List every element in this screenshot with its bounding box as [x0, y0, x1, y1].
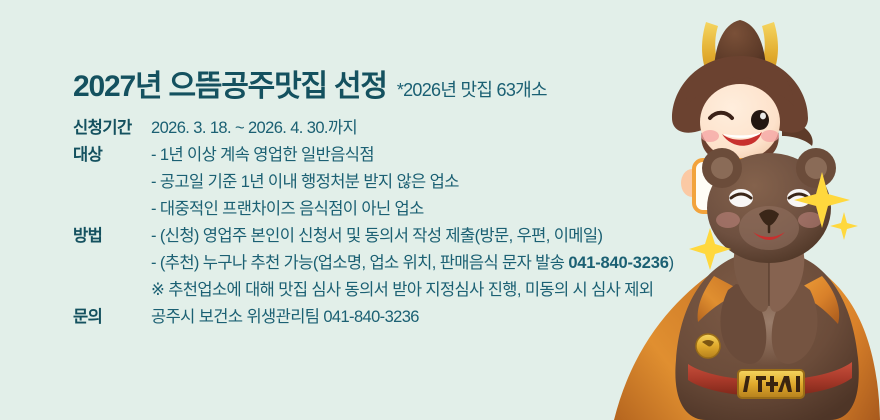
hat-horn-left	[702, 22, 728, 92]
bear-hand-left	[734, 229, 769, 312]
bear-character	[675, 148, 858, 420]
info-row-label: 대상	[73, 142, 145, 168]
cheek-left	[701, 130, 719, 142]
cheek-right	[761, 130, 779, 142]
promotional-banner: 2027년 으뜸공주맛집 선정 *2026년 맛집 63개소 신청기간2026.…	[0, 0, 880, 420]
bear-ear-right	[796, 148, 836, 188]
cape-shoulder-right	[792, 276, 839, 324]
info-row-label: 신청기간	[73, 115, 145, 141]
info-row-label: 방법	[73, 223, 145, 249]
hat-horn-right	[752, 22, 778, 92]
sparkle-left	[689, 228, 731, 270]
sparkle-large	[794, 172, 850, 228]
info-row-value: - 1년 이상 계속 영업한 일반음식점	[145, 142, 374, 168]
text-content-block: 2027년 으뜸공주맛집 선정 *2026년 맛집 63개소 신청기간2026.…	[73, 70, 673, 330]
belt-buckle	[738, 370, 804, 398]
info-row: - 대중적인 프랜차이즈 음식점이 아닌 업소	[73, 196, 673, 222]
hat-brim	[672, 56, 808, 164]
bear-ear-left	[702, 148, 742, 188]
princess-face	[700, 84, 780, 160]
info-row-value-text-tail: )	[669, 254, 674, 272]
headline-row: 2027년 으뜸공주맛집 선정 *2026년 맛집 63개소	[73, 70, 673, 103]
mouth	[722, 132, 762, 146]
princess-character: 으뜸공주 맛집선정	[672, 20, 813, 228]
cape-shoulder-left	[698, 276, 744, 322]
info-row-value: - (신청) 영업주 본인이 신청서 및 동의서 작성 제출(방문, 우편, 이…	[145, 223, 602, 249]
page-title: 2027년 으뜸공주맛집 선정	[73, 70, 387, 103]
bear-hand-right	[769, 229, 804, 312]
info-row: 방법- (신청) 영업주 본인이 신청서 및 동의서 작성 제출(방문, 우편,…	[73, 223, 673, 249]
sign-line-2: 맛집선정	[712, 187, 768, 206]
info-row-value: - 대중적인 프랜차이즈 음식점이 아닌 업소	[145, 196, 424, 222]
info-row-value: - (추천) 누구나 추천 가능(업소명, 업소 위치, 판매음식 문자 발송 …	[145, 250, 674, 276]
bangs	[686, 58, 794, 106]
sparkle-small	[830, 212, 858, 240]
hand-right	[777, 169, 799, 197]
info-row-value: 2026. 3. 18. ~ 2026. 4. 30.까지	[145, 115, 357, 141]
info-row: 대상- 1년 이상 계속 영업한 일반음식점	[73, 142, 673, 168]
bear-belt	[688, 362, 852, 396]
bear-arm-left	[720, 284, 766, 364]
eye-wink-left	[710, 113, 732, 118]
bear-body	[675, 250, 858, 420]
bear-arm-right	[772, 284, 818, 364]
bear-head	[707, 153, 831, 263]
info-row-value-text: - (추천) 누구나 추천 가능(업소명, 업소 위치, 판매음식 문자 발송	[151, 254, 568, 272]
title-note: *2026년 맛집 63개소	[397, 76, 547, 102]
sign-line-1: 으뜸공주	[712, 167, 769, 185]
buckle-glyphs	[743, 376, 800, 392]
phone-number: 041-840-3236	[568, 254, 668, 272]
eye-right	[751, 110, 769, 130]
info-row-value: ※ 추천업소에 대해 맛집 심사 동의서 받아 지정심사 진행, 미동의 시 심…	[145, 277, 653, 303]
bear-mouth	[753, 232, 785, 240]
info-row-value: - 공고일 기준 1년 이내 행정처분 받지 않은 업소	[145, 169, 459, 195]
info-row: 신청기간2026. 3. 18. ~ 2026. 4. 30.까지	[73, 115, 673, 141]
info-row: 문의공주시 보건소 위생관리팀 041-840-3236	[73, 304, 673, 330]
info-rows-container: 신청기간2026. 3. 18. ~ 2026. 4. 30.까지대상- 1년 …	[73, 115, 673, 330]
bear-nose	[759, 210, 779, 227]
hat-crown	[714, 20, 766, 74]
info-row: - 공고일 기준 1년 이내 행정처분 받지 않은 업소	[73, 169, 673, 195]
info-row: ※ 추천업소에 대해 맛집 심사 동의서 받아 지정심사 진행, 미동의 시 심…	[73, 277, 673, 303]
info-row-label: 문의	[73, 304, 145, 330]
info-row: - (추천) 누구나 추천 가능(업소명, 업소 위치, 판매음식 문자 발송 …	[73, 250, 673, 276]
hand-left	[681, 169, 703, 197]
cape-clasp	[696, 334, 720, 358]
info-row-value: 공주시 보건소 위생관리팀 041-840-3236	[145, 304, 419, 330]
sparkles	[689, 172, 858, 270]
sign-board: 으뜸공주 맛집선정	[694, 160, 786, 212]
bear-eyes	[729, 189, 811, 207]
